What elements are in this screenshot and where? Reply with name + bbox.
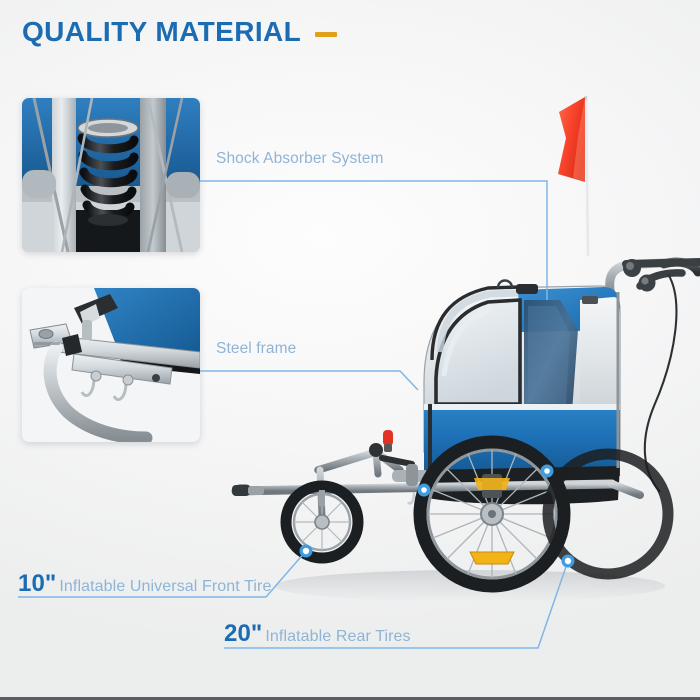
canopy-window bbox=[436, 300, 520, 404]
connector-dot-rear-tire bbox=[562, 555, 575, 568]
front-tire-size: 10" bbox=[18, 570, 56, 597]
callout-line-frame bbox=[200, 371, 418, 390]
dimension-label-front-tire: 10"Inflatable Universal Front Tire bbox=[18, 570, 271, 598]
front-wheel-spokes bbox=[294, 494, 350, 550]
callout-line-shock bbox=[200, 181, 547, 300]
canopy-shell bbox=[424, 286, 620, 452]
flag-cloth bbox=[558, 97, 585, 182]
rear-wheel-far bbox=[548, 454, 668, 574]
rear-wheel-spokes bbox=[428, 450, 556, 578]
wheel-reflector-top bbox=[474, 478, 510, 490]
title-dash-decoration bbox=[315, 32, 337, 37]
callout-connector-dots bbox=[300, 465, 575, 568]
shock-absorber-photo[interactable] bbox=[22, 98, 200, 252]
steel-frame-photo[interactable] bbox=[22, 288, 200, 442]
connector-dot-steel-frame bbox=[418, 484, 431, 497]
ground-shadow bbox=[275, 570, 665, 602]
rear-light bbox=[383, 430, 393, 452]
header: QUALITY MATERIAL bbox=[22, 18, 337, 46]
push-handle bbox=[608, 259, 700, 368]
rear-tire-size: 20" bbox=[224, 620, 262, 647]
connector-dot-canopy bbox=[541, 465, 554, 478]
blue-cargo-body bbox=[424, 406, 620, 480]
shock-absorber-photo-art bbox=[22, 98, 200, 252]
callout-label-shock-absorber: Shock Absorber System bbox=[216, 150, 384, 168]
dimension-label-rear-tire: 20"Inflatable Rear Tires bbox=[224, 620, 411, 648]
tow-bar-and-frame bbox=[232, 443, 640, 516]
wheel-reflector-bottom bbox=[470, 552, 514, 564]
mesh-panel bbox=[524, 300, 578, 412]
rear-tire-description: Inflatable Rear Tires bbox=[265, 628, 410, 645]
brake-cable bbox=[645, 274, 677, 492]
connector-dot-front-tire bbox=[300, 545, 313, 558]
front-tire-description: Inflatable Universal Front Tire bbox=[59, 578, 271, 595]
page-title: QUALITY MATERIAL bbox=[22, 18, 301, 46]
safety-flag bbox=[558, 96, 588, 256]
trailer-body bbox=[424, 281, 620, 505]
infographic-page: QUALITY MATERIAL bbox=[0, 0, 700, 700]
rear-wheel bbox=[420, 442, 564, 586]
steel-frame-photo-art bbox=[22, 288, 200, 442]
canopy-blue-top bbox=[518, 287, 620, 332]
callout-label-steel-frame: Steel frame bbox=[216, 340, 296, 358]
front-wheel bbox=[286, 486, 358, 558]
